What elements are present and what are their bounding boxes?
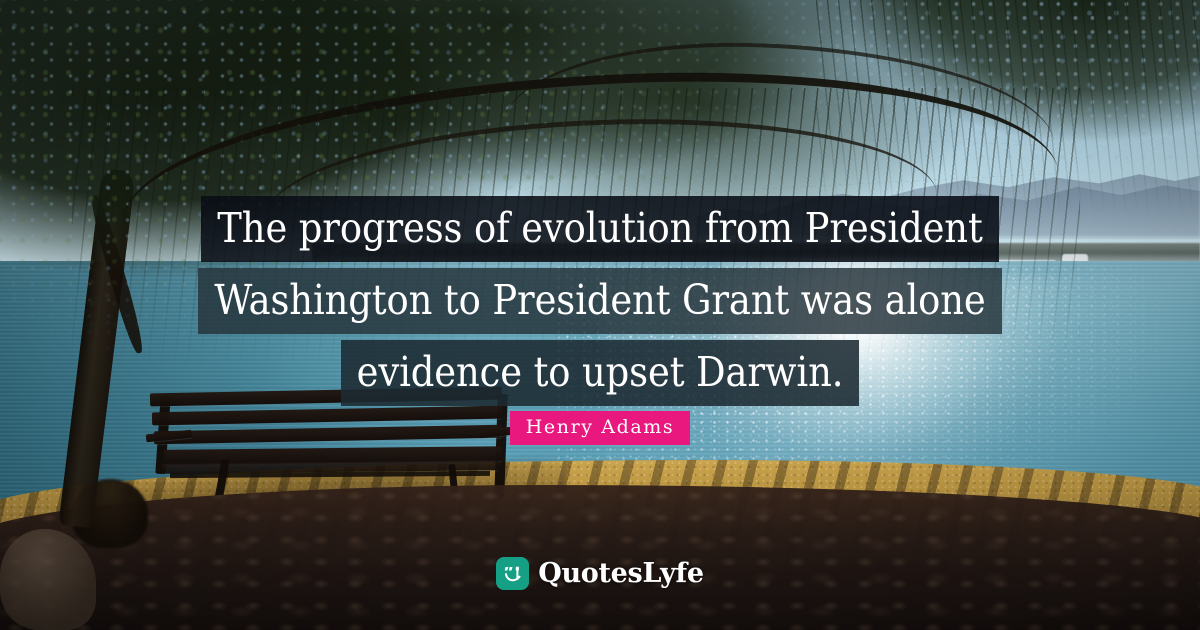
brand-logo: QuotesLyfe bbox=[0, 557, 1200, 590]
quote-line-2: Washington to President Grant was alone bbox=[198, 268, 1001, 334]
quote-line-1: The progress of evolution from President bbox=[201, 196, 998, 262]
quote-line-3: evidence to upset Darwin. bbox=[341, 340, 860, 406]
willow-strands-right bbox=[816, 0, 1200, 214]
author-badge-wrap: Henry Adams bbox=[0, 411, 1200, 445]
quote-marks-icon bbox=[496, 557, 529, 590]
author-badge: Henry Adams bbox=[510, 411, 691, 445]
quote-card: The progress of evolution from President… bbox=[0, 0, 1200, 630]
quote-text-block: The progress of evolution from President… bbox=[0, 196, 1200, 406]
brand-name: QuotesLyfe bbox=[538, 558, 704, 589]
